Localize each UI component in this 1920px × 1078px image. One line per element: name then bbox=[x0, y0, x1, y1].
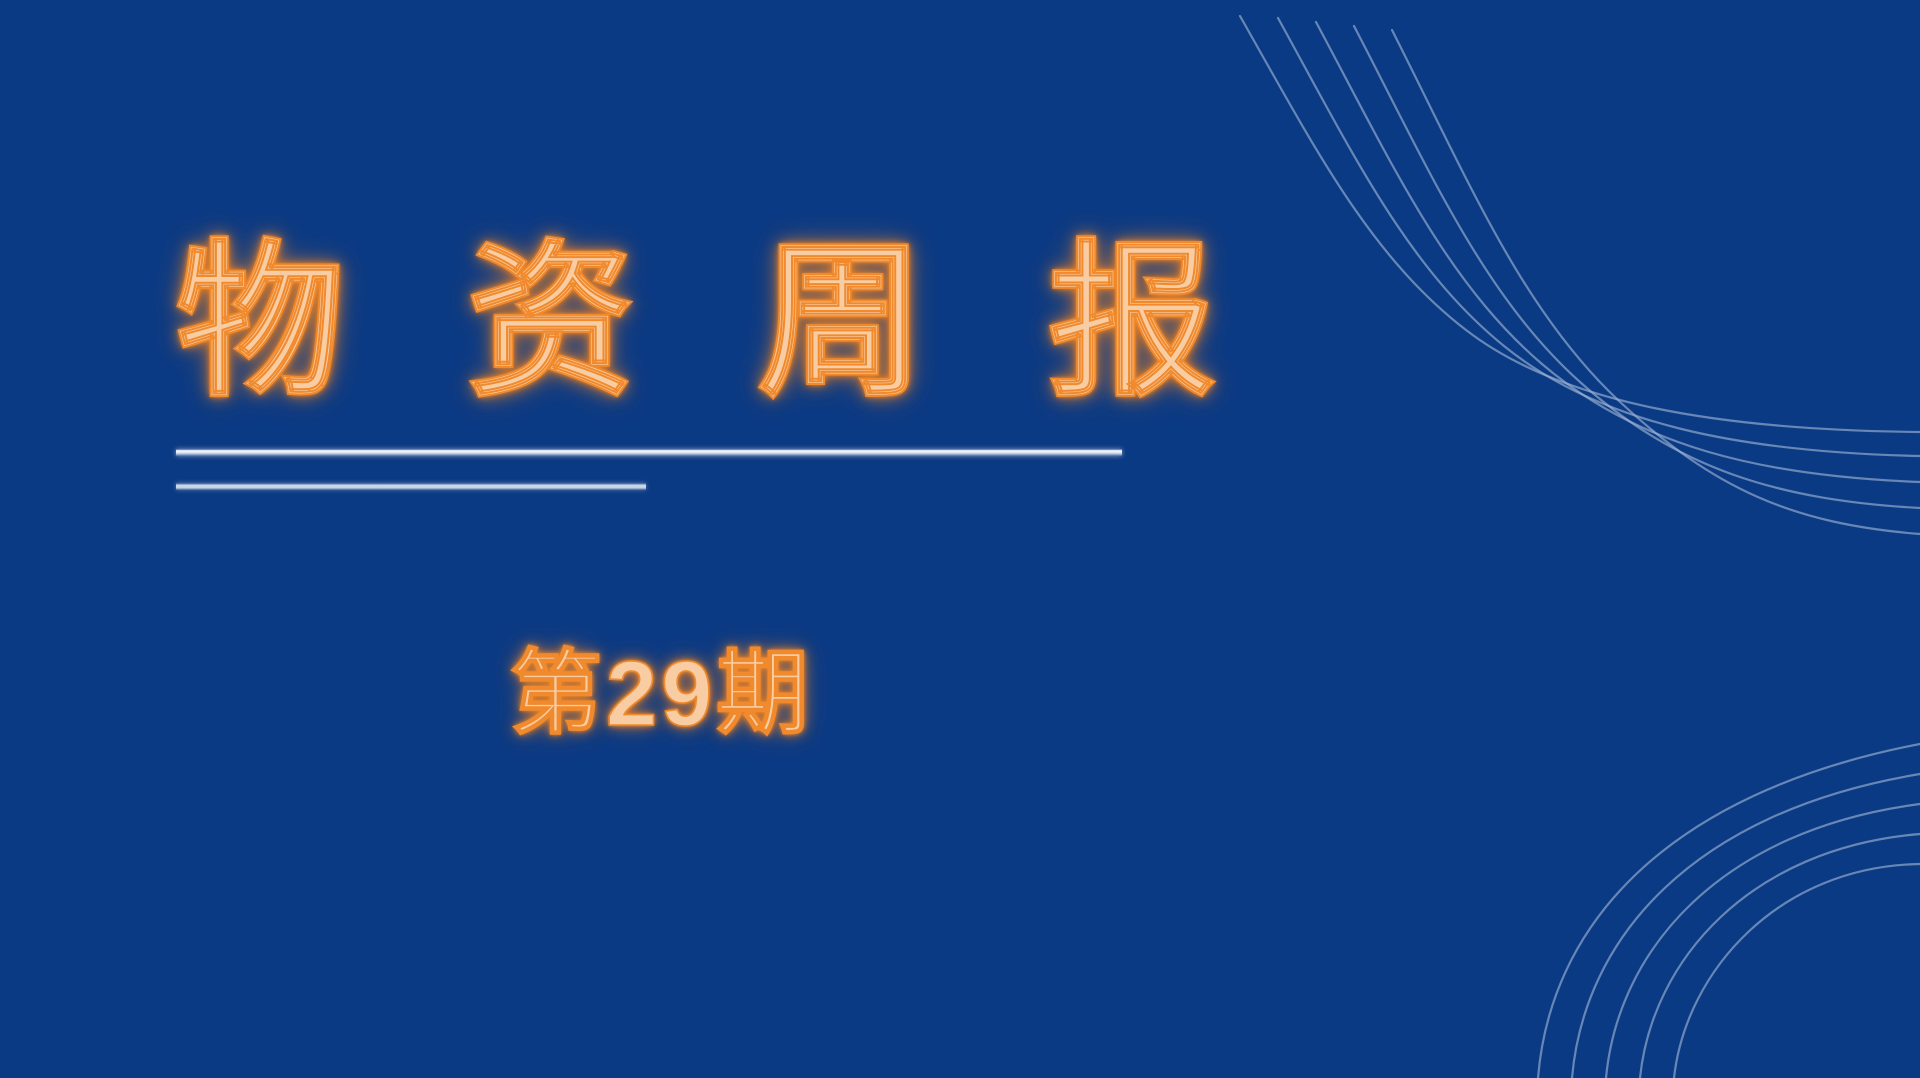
title-block: 物 资 周 报 bbox=[176, 232, 1176, 490]
title-slide: 物 资 周 报 第29期 bbox=[0, 0, 1920, 1078]
page-title: 物 资 周 报 bbox=[176, 232, 1176, 413]
swoosh-lines-top-right-icon bbox=[1220, 0, 1920, 560]
title-rule-primary bbox=[176, 449, 1122, 456]
title-rule-secondary bbox=[176, 483, 646, 490]
issue-number-label: 第29期 bbox=[510, 648, 812, 740]
arc-lines-bottom-right-icon bbox=[1220, 558, 1920, 1078]
